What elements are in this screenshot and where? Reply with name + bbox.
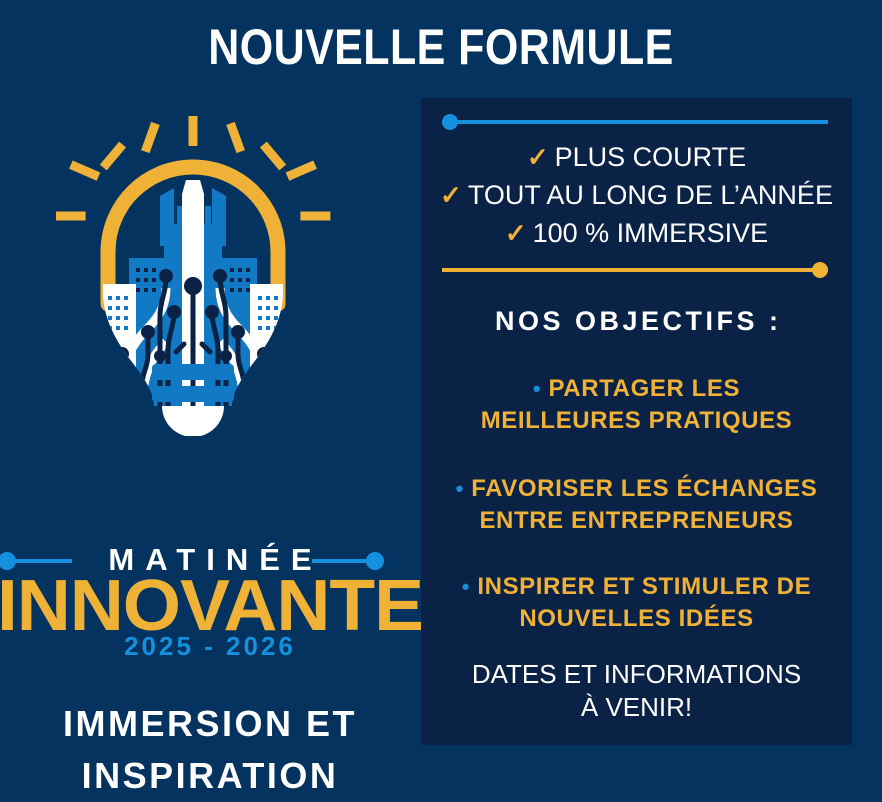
divider-top-blue — [442, 120, 828, 124]
objective-line-1: • FAVORISER LES ÉCHANGES — [421, 473, 852, 505]
objective-line-2: NOUVELLES IDÉES — [421, 603, 852, 635]
info-panel: ✓PLUS COURTE ✓TOUT AU LONG DE L’ANNÉE ✓1… — [421, 98, 852, 745]
poster-canvas: NOUVELLE FORMULE — [0, 0, 882, 763]
objective-text: FAVORISER LES ÉCHANGES — [471, 475, 817, 502]
objective-item: • FAVORISER LES ÉCHANGES ENTRE ENTREPREN… — [421, 473, 852, 537]
lightbulb-smart-city-logo-icon — [56, 106, 336, 436]
objective-item: • INSPIRER ET STIMULER DE NOUVELLES IDÉE… — [421, 571, 852, 635]
divider-top-dot — [442, 114, 458, 130]
divider-bottom-bar — [442, 268, 828, 272]
list-item: ✓100 % IMMERSIVE — [421, 214, 852, 252]
check-icon: ✓ — [440, 180, 462, 210]
page-title: NOUVELLE FORMULE — [62, 22, 821, 72]
list-item: ✓PLUS COURTE — [421, 138, 852, 176]
objective-line-1: • PARTAGER LES — [421, 373, 852, 405]
footer-note: DATES ET INFORMATIONS À VENIR! — [421, 658, 852, 724]
feature-label: PLUS COURTE — [555, 142, 747, 172]
tagline: IMMERSION ET INSPIRATION — [0, 698, 420, 802]
bullet-icon: • — [456, 476, 464, 501]
objective-text: INSPIRER ET STIMULER DE — [477, 573, 811, 600]
objective-line-2: ENTRE ENTREPRENEURS — [421, 505, 852, 537]
objective-line-1: • INSPIRER ET STIMULER DE — [421, 571, 852, 603]
objective-item: • PARTAGER LES MEILLEURES PRATIQUES — [421, 373, 852, 437]
bullet-icon: • — [462, 574, 470, 599]
divider-bottom-gold — [442, 268, 828, 272]
matinee-line-right — [312, 559, 374, 563]
features-list: ✓PLUS COURTE ✓TOUT AU LONG DE L’ANNÉE ✓1… — [421, 138, 852, 252]
divider-top-bar — [442, 120, 828, 124]
brand-years: 2025 - 2026 — [0, 631, 420, 661]
objective-line-2: MEILLEURES PRATIQUES — [421, 405, 852, 437]
brand-name-innovante: INNOVANTE — [0, 575, 428, 637]
objectives-heading: NOS OBJECTIFS : — [421, 306, 852, 336]
list-item: ✓TOUT AU LONG DE L’ANNÉE — [421, 176, 852, 214]
feature-label: TOUT AU LONG DE L’ANNÉE — [468, 180, 833, 210]
check-icon: ✓ — [527, 142, 549, 172]
divider-bottom-dot — [812, 262, 828, 278]
feature-label: 100 % IMMERSIVE — [533, 218, 769, 248]
objective-text: PARTAGER LES — [548, 375, 740, 402]
bullet-icon: • — [533, 376, 541, 401]
tagline-line-2: INSPIRATION — [0, 750, 420, 802]
footer-line-1: DATES ET INFORMATIONS — [421, 658, 852, 691]
left-column: MATINÉE INNOVANTE 2025 - 2026 IMMERSION … — [0, 98, 420, 763]
check-icon: ✓ — [505, 218, 527, 248]
tagline-line-1: IMMERSION ET — [0, 698, 420, 750]
footer-line-2: À VENIR! — [421, 691, 852, 724]
